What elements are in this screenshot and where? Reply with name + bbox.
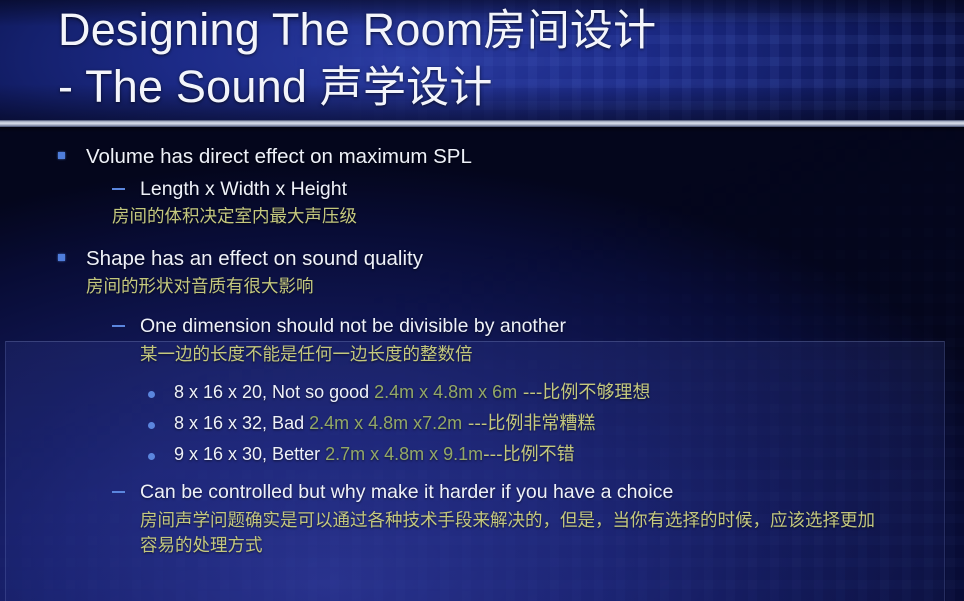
page-title: Designing The Room房间设计 - The Sound 声学设计 (0, 0, 964, 116)
title-line-2-chinese: 声学设计 (320, 64, 493, 112)
ratio-2-note: ---比例非常糟糕 (462, 413, 595, 434)
dot-bullet-icon (148, 441, 174, 460)
title-line-1: Designing The Room房间设计 (58, 2, 964, 59)
title-line-2-english: - The Sound (58, 61, 320, 112)
title-line-1-english: Designing The Room (58, 4, 484, 55)
list-item-ratio-2: 8 x 16 x 32, Bad 2.4m x 4.8m x7.2m ---比例… (0, 410, 964, 437)
note-divisible-chinese: 某一边的长度不能是任何一边长度的整数倍 (0, 343, 964, 368)
bullet-level2-dimensions: Length x Width x Height (0, 175, 964, 204)
bullet-level2-divisible-label: One dimension should not be divisible by… (140, 312, 566, 341)
ratio-2-text: 8 x 16 x 32, Bad 2.4m x 4.8m x7.2m ---比例… (174, 410, 595, 437)
square-bullet-icon (58, 243, 86, 261)
bullet-level2-controlled-label: Can be controlled but why make it harder… (140, 478, 673, 507)
dash-bullet-icon (112, 312, 140, 327)
list-item-ratio-1: 8 x 16 x 20, Not so good 2.4m x 4.8m x 6… (0, 379, 964, 406)
note-volume-chinese: 房间的体积决定室内最大声压级 (0, 205, 964, 230)
bullet-level1-shape: Shape has an effect on sound quality (0, 243, 964, 274)
ratio-2-label: 8 x 16 x 32, Bad (174, 413, 309, 433)
list-item-ratio-3: 9 x 16 x 30, Better 2.7m x 4.8m x 9.1m--… (0, 441, 964, 468)
bullet-level1-shape-label: Shape has an effect on sound quality (86, 243, 423, 274)
ratio-2-metric: 2.4m x 4.8m x7.2m (309, 413, 462, 433)
ratio-1-label: 8 x 16 x 20, Not so good (174, 382, 374, 402)
bullet-level1-volume-label: Volume has direct effect on maximum SPL (86, 141, 472, 172)
ratio-3-note: ---比例不错 (483, 444, 575, 465)
slide-body: Volume has direct effect on maximum SPL … (0, 127, 964, 601)
dash-bullet-icon (112, 175, 140, 190)
ratio-1-metric: 2.4m x 4.8m x 6m (374, 382, 517, 402)
square-bullet-icon (58, 141, 86, 159)
dot-bullet-icon (148, 379, 174, 398)
bullet-level1-volume: Volume has direct effect on maximum SPL (0, 141, 964, 172)
ratio-1-note: ---比例不够理想 (517, 382, 650, 403)
ratio-3-label: 9 x 16 x 30, Better (174, 444, 325, 464)
bullet-level2-divisible: One dimension should not be divisible by… (0, 312, 964, 341)
presentation-slide: Designing The Room房间设计 - The Sound 声学设计 … (0, 0, 964, 601)
dot-bullet-icon (148, 410, 174, 429)
note-controlled-chinese: 房间声学问题确实是可以通过各种技术手段来解决的，但是，当你有选择的时候，应该选择… (0, 509, 880, 559)
dash-bullet-icon (112, 478, 140, 493)
bullet-level2-controlled: Can be controlled but why make it harder… (0, 478, 964, 507)
title-divider-rule (0, 120, 964, 127)
note-shape-chinese: 房间的形状对音质有很大影响 (0, 275, 964, 300)
bullet-level2-dimensions-label: Length x Width x Height (140, 175, 347, 204)
title-line-2: - The Sound 声学设计 (58, 59, 964, 116)
bullet-content: Volume has direct effect on maximum SPL … (0, 127, 964, 559)
ratio-3-metric: 2.7m x 4.8m x 9.1m (325, 444, 483, 464)
title-line-1-chinese: 房间设计 (484, 7, 657, 55)
ratio-1-text: 8 x 16 x 20, Not so good 2.4m x 4.8m x 6… (174, 379, 650, 406)
slide-title-bar: Designing The Room房间设计 - The Sound 声学设计 (0, 0, 964, 120)
title-divider-shadow (0, 127, 964, 132)
ratio-3-text: 9 x 16 x 30, Better 2.7m x 4.8m x 9.1m--… (174, 441, 575, 468)
